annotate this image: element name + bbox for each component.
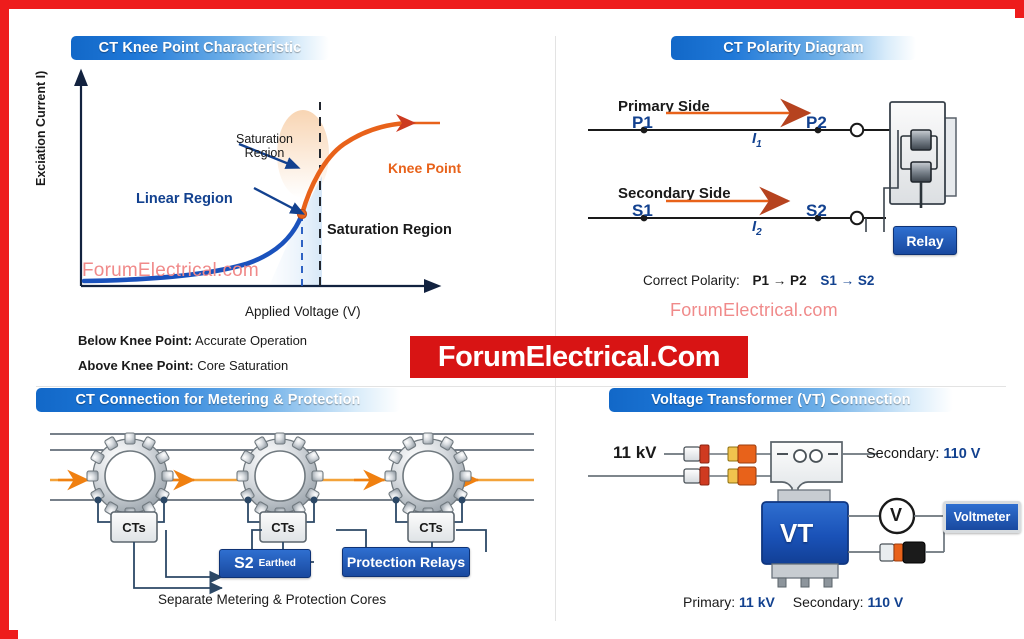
watermark-banner: ForumElectrical.Com [410,336,748,378]
ct-box-label-2: CTs [260,512,306,542]
protection-relays-badge[interactable]: Protection Relays [342,547,470,577]
panel-ct-polarity: CT Polarity Diagram Primary Side Seconda… [566,36,1016,381]
page-frame: CT Knee Point Characteristic Exciation C… [0,0,1024,639]
vertical-divider [555,36,556,621]
s2-earthed-badge-main: S2 [234,555,254,573]
vt-footer-primary-key: Primary: [683,594,735,610]
s2-earthed-badge[interactable]: S2 Earthed [219,549,311,578]
s2-earthed-badge-sub: Earthed [259,558,296,569]
ct-polarity-schematic [566,36,1016,296]
vt-footer-secondary-value: 110 V [867,594,903,610]
current-label-i1: I1 [752,130,762,150]
current-label-i2: I2 [752,218,762,238]
panel-polarity-watermark: ForumElectrical.com [670,300,838,321]
protection-relays-badge-label: Protection Relays [347,554,465,570]
annotation-saturation-region: Saturation Region [327,222,452,238]
note-below-knee-key: Below Knee Point: [78,333,192,348]
note-below-knee: Below Knee Point: Accurate Operation [78,333,307,348]
correct-polarity-secondary: S1 → S2 [820,273,874,288]
correct-polarity-label: Correct Polarity: [643,273,740,288]
label-secondary-inline-key: Secondary: [866,446,939,462]
note-below-knee-value: Accurate Operation [195,333,307,348]
terminal-p2: P2 [806,113,827,133]
chart-x-axis-label: Applied Voltage (V) [245,304,361,319]
panel-vt-connection: Voltage Transformer (VT) Connection [566,388,1016,620]
annotation-knee-point: Knee Point [388,160,461,176]
correct-polarity-primary: P1 → P2 [753,273,807,288]
vt-footer-primary-value: 11 kV [739,594,775,610]
panel-ct-connection-header: CT Connection for Metering & Protection [36,388,400,412]
panel-ct-connection-title: CT Connection for Metering & Protection [75,392,360,408]
terminal-s2: S2 [806,201,827,221]
annotation-saturation-region-upper: Saturation Region [236,132,293,160]
label-secondary-inline-value: 110 V [943,446,980,462]
vt-body-label: VT [780,518,813,549]
annotation-saturation-line2: Region [245,146,285,160]
terminal-s1: S1 [632,201,653,221]
relay-badge-label: Relay [906,233,943,249]
note-above-knee-key: Above Knee Point: [78,358,194,373]
voltmeter-badge[interactable]: Voltmeter [943,501,1021,533]
panel-knee-watermark: ForumElectrical.com [82,260,259,282]
label-primary-voltage: 11 kV [613,443,657,463]
knee-point-chart [36,36,546,336]
annotation-saturation-line1: Saturation [236,132,293,146]
ct-box-label-1: CTs [111,512,157,542]
current-label-i1-subscript: 1 [756,139,762,150]
label-secondary-inline: Secondary: 110 V [866,446,980,462]
terminal-p1: P1 [632,113,653,133]
panel-ct-connection: CT Connection for Metering & Protection [36,388,546,620]
vt-footer-secondary-key: Secondary: [793,594,864,610]
voltmeter-badge-label: Voltmeter [954,510,1011,524]
panel-vt-connection-header: Voltage Transformer (VT) Connection [609,388,953,412]
relay-badge[interactable]: Relay [893,226,957,255]
correct-polarity-row: Correct Polarity: P1 → P2 S1 → S2 [643,273,874,288]
panel-vt-connection-title: Voltage Transformer (VT) Connection [651,392,910,408]
voltmeter-symbol: V [890,505,902,526]
horizontal-divider [36,386,1006,387]
vt-footer: Primary: 11 kV Secondary: 110 V [683,594,903,610]
page-inner: CT Knee Point Characteristic Exciation C… [18,18,1024,639]
current-label-i2-subscript: 2 [756,227,762,238]
ct-box-label-3: CTs [408,512,454,542]
ct-connection-caption: Separate Metering & Protection Cores [158,592,386,607]
watermark-banner-text: ForumElectrical.Com [438,341,720,374]
annotation-linear-region: Linear Region [136,191,233,207]
note-above-knee-value: Core Saturation [197,358,288,373]
note-above-knee: Above Knee Point: Core Saturation [78,358,288,373]
panel-knee-point: CT Knee Point Characteristic Exciation C… [36,36,546,381]
